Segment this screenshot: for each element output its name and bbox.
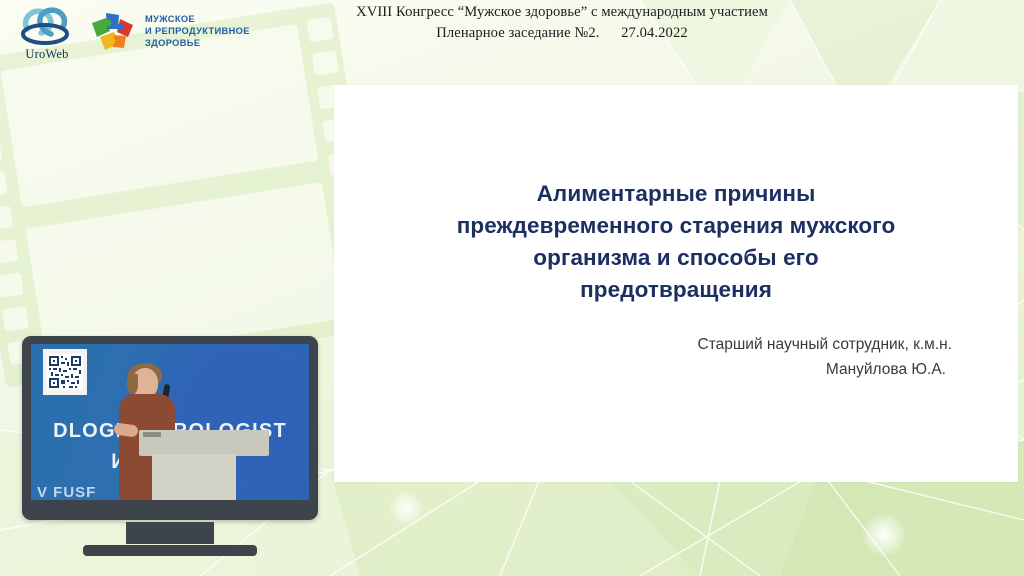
presentation-screenshot: UroWeb МУЖСКОЕ И РЕПРОДУКТИВНОЕ ЗДОРОВЬЕ (0, 0, 1024, 576)
slide-panel: Алиментарные причины преждевременного ст… (334, 85, 1018, 482)
session-date: 27.04.2022 (621, 25, 688, 41)
congress-title: XVIII Конгресс “Мужское здоровье” с межд… (312, 2, 812, 23)
monitor-bezel: DLOGIST DROLOGIST И / 27 ЕЛЯ V FUSF (22, 336, 318, 520)
mrz-wordmark: МУЖСКОЕ И РЕПРОДУКТИВНОЕ ЗДОРОВЬЕ (145, 14, 250, 50)
mens-reproductive-health-logo: МУЖСКОЕ И РЕПРОДУКТИВНОЕ ЗДОРОВЬЕ (88, 8, 263, 56)
podium-edge (143, 432, 161, 437)
slide-title-line-4: предотвращения (392, 274, 960, 306)
slide-byline: Старший научный сотрудник, к.м.н. Мануйл… (424, 332, 952, 382)
uroweb-logo: UroWeb (11, 3, 83, 61)
congress-header: XVIII Конгресс “Мужское здоровье” с межд… (312, 2, 812, 43)
slide-title: Алиментарные причины преждевременного ст… (392, 178, 960, 306)
slide-title-line-3: организма и способы его (392, 242, 960, 274)
byline-name: Мануйлова Ю.А. (424, 357, 952, 382)
mrz-line-1: МУЖСКОЕ (145, 14, 250, 26)
speaker-hair-side (127, 374, 138, 394)
session-label: Пленарное заседание №2. (436, 25, 599, 41)
mrz-line-3: ЗДОРОВЬЕ (145, 38, 250, 50)
puzzle-icon (88, 9, 138, 55)
qr-code-icon (43, 349, 87, 395)
byline-role: Старший научный сотрудник, к.м.н. (424, 332, 952, 357)
slide-title-line-2: преждевременного старения мужского (392, 210, 960, 242)
monitor-stand-neck (126, 522, 214, 544)
video-screen[interactable]: DLOGIST DROLOGIST И / 27 ЕЛЯ V FUSF (31, 344, 309, 500)
slide-title-line-1: Алиментарные причины (392, 178, 960, 210)
podium-body (152, 454, 236, 500)
video-frame: DLOGIST DROLOGIST И / 27 ЕЛЯ V FUSF (31, 344, 309, 500)
monitor-stand-base (83, 545, 257, 556)
video-monitor[interactable]: DLOGIST DROLOGIST И / 27 ЕЛЯ V FUSF (22, 336, 318, 556)
session-info: Пленарное заседание №2. 27.04.2022 (312, 23, 812, 44)
uroweb-wordmark: UroWeb (11, 47, 83, 62)
mrz-line-2: И РЕПРОДУКТИВНОЕ (145, 26, 250, 38)
backdrop-text-line-3: V FUSF (37, 484, 96, 500)
